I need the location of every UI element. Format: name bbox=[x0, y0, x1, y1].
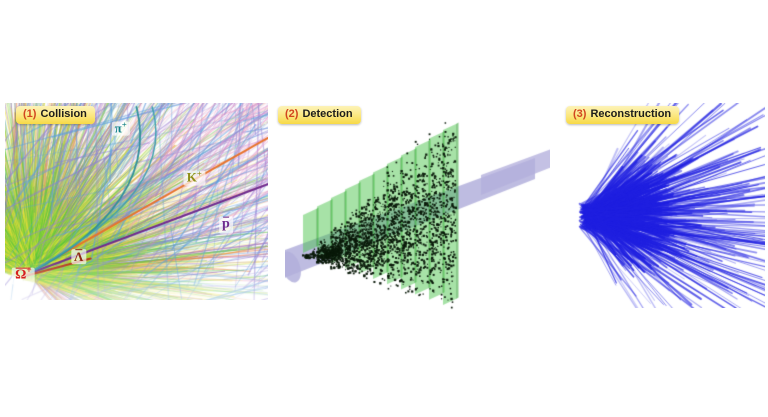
particle-label-anti-lambda: Λ bbox=[71, 249, 86, 265]
detection-visualization bbox=[285, 103, 550, 313]
particle-symbol-omega: Ω bbox=[15, 268, 26, 283]
panel-number-detection: (2) bbox=[285, 109, 298, 120]
particle-symbol-lambda: Λ bbox=[74, 249, 83, 264]
particle-superscript-omega: + bbox=[26, 266, 31, 276]
panel-number-reconstruction: (3) bbox=[573, 109, 586, 120]
reconstruction-visualization bbox=[560, 103, 765, 308]
particle-label-k-plus: K+ bbox=[184, 171, 205, 186]
panel-badge-reconstruction: (3) Reconstruction bbox=[566, 106, 679, 124]
panel-title-detection: Detection bbox=[302, 109, 352, 120]
particle-label-pi-plus: π+ bbox=[112, 121, 130, 136]
panel-detection bbox=[285, 103, 550, 313]
panel-title-reconstruction: Reconstruction bbox=[590, 109, 671, 120]
panel-title-collision: Collision bbox=[40, 109, 86, 120]
particle-symbol-p: p bbox=[222, 217, 230, 232]
panel-badge-collision: (1) Collision bbox=[16, 106, 95, 124]
panel-badge-detection: (2) Detection bbox=[278, 106, 361, 124]
particle-label-anti-proton: p bbox=[219, 217, 233, 234]
particle-physics-figure: π+ K+ p Λ Ω+ (1) Collision (2) Detection bbox=[0, 0, 768, 417]
particle-symbol-k: K bbox=[187, 170, 197, 185]
panel-reconstruction bbox=[560, 103, 765, 308]
particle-superscript-pi: + bbox=[122, 119, 127, 129]
panel-number-collision: (1) bbox=[23, 109, 36, 120]
particle-label-anti-omega-plus: Ω+ bbox=[12, 268, 35, 285]
panel-collision: π+ K+ p Λ Ω+ bbox=[5, 103, 268, 300]
collision-visualization bbox=[5, 103, 268, 300]
particle-superscript-k: + bbox=[197, 168, 202, 178]
